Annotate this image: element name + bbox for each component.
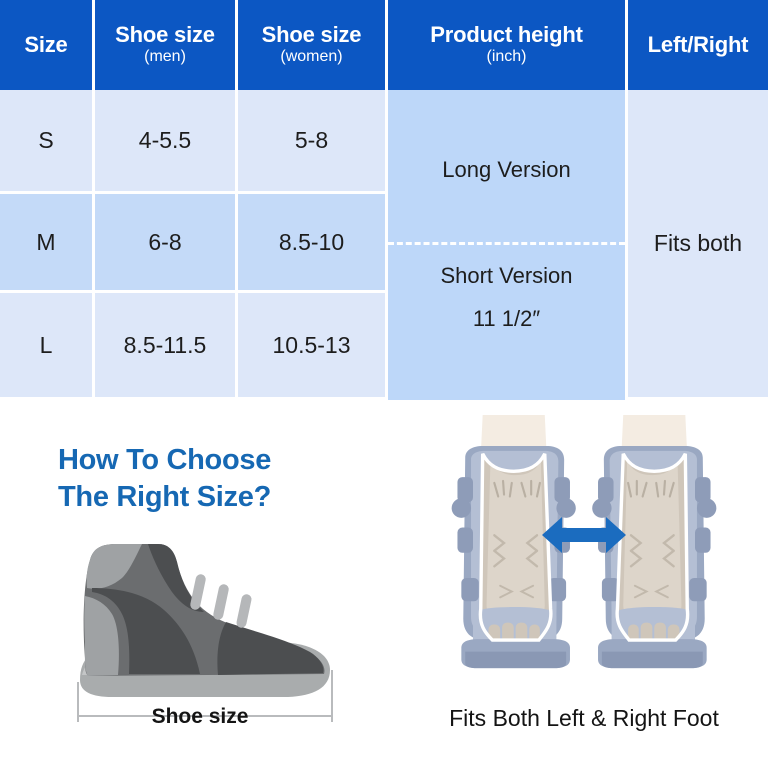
heading-line-2: The Right Size? [58, 479, 358, 516]
table-row: 8.5-10 [238, 194, 388, 293]
shoe-size-caption: Shoe size [30, 705, 370, 729]
product-height-long-label: Long Version [442, 158, 570, 181]
header-label-sub: (inch) [486, 47, 526, 67]
shoe-icon [30, 530, 370, 730]
table-row: 8.5-11.5 [95, 293, 238, 400]
table-row: 10.5-13 [238, 293, 388, 400]
table-row: L [0, 293, 95, 400]
table-header-shoe-size-women: Shoe size (women) [238, 0, 388, 90]
header-label-sub: (men) [144, 47, 186, 67]
header-label-main: Shoe size [115, 23, 215, 47]
table-row: 5-8 [238, 90, 388, 194]
table-header-size: Size [0, 0, 95, 90]
table-header-shoe-size-men: Shoe size (men) [95, 0, 238, 90]
shoe-illustration [30, 530, 370, 730]
header-label-sub: (women) [280, 47, 342, 67]
product-height-short-value: 11 1/2″ [473, 307, 540, 330]
cell-size: M [36, 229, 55, 256]
header-label-main: Left/Right [648, 33, 749, 57]
cell-shoe-size-men: 6-8 [148, 229, 181, 256]
heading-line-1: How To Choose [58, 442, 358, 479]
walker-boots-icon [400, 405, 768, 705]
cell-shoe-size-women: 8.5-10 [279, 229, 344, 256]
table-row: M [0, 194, 95, 293]
table-row: S [0, 90, 95, 194]
table-header-product-height: Product height (inch) [388, 0, 628, 90]
size-chart-table: Size Shoe size (men) Shoe size (women) P… [0, 0, 768, 400]
cell-product-height-short: Short Version 11 1/2″ [388, 194, 628, 400]
table-row: 4-5.5 [95, 90, 238, 194]
table-header-left-right: Left/Right [628, 0, 768, 90]
cell-left-right: Fits both [628, 90, 768, 400]
product-height-dashed-divider [388, 242, 625, 245]
how-to-choose-panel: How To Choose The Right Size? [0, 400, 768, 768]
header-label-main: Size [24, 33, 67, 57]
boots-illustration [400, 405, 768, 705]
table-row: 6-8 [95, 194, 238, 293]
cell-shoe-size-women: 10.5-13 [272, 332, 350, 359]
header-label-main: Product height [430, 23, 582, 47]
left-right-value: Fits both [654, 230, 742, 257]
cell-shoe-size-men: 4-5.5 [139, 127, 191, 154]
fits-both-feet-caption: Fits Both Left & Right Foot [400, 705, 768, 732]
cell-shoe-size-men: 8.5-11.5 [124, 332, 207, 359]
cell-size: L [40, 332, 53, 359]
cell-shoe-size-women: 5-8 [295, 127, 328, 154]
how-to-choose-heading: How To Choose The Right Size? [58, 442, 358, 516]
cell-size: S [38, 127, 53, 154]
product-height-short-label: Short Version [440, 264, 572, 287]
header-label-main: Shoe size [262, 23, 362, 47]
